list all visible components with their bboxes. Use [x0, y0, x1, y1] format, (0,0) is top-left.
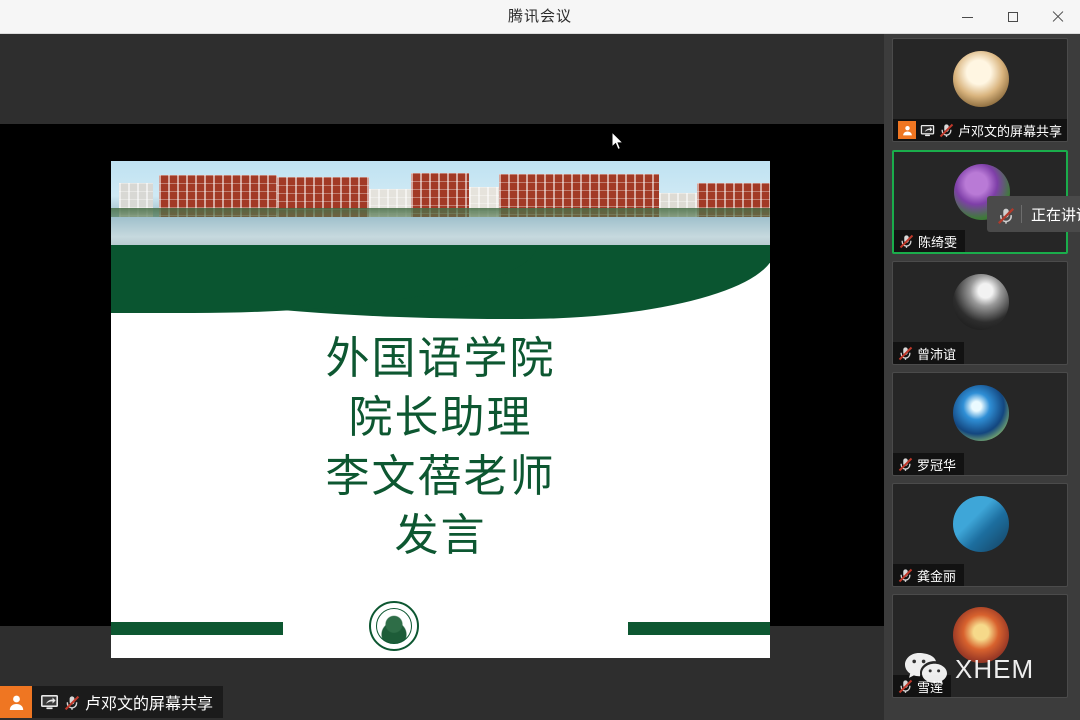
watermark-text: XHEM — [955, 654, 1034, 685]
slide-header-photo — [111, 161, 770, 253]
speaking-tooltip: 正在讲话 — [987, 196, 1080, 232]
participant-namebar-1: 陈绮雯 — [894, 230, 965, 252]
slide-title-line-4: 发言 — [111, 506, 770, 565]
presentation-slide: 外国语学院 院长助理 李文蓓老师 发言 — [111, 161, 770, 658]
screen-share-icon — [40, 694, 59, 710]
screen-share-icon — [920, 124, 935, 137]
slide-footer-bar-right — [628, 622, 770, 635]
participant-sidebar[interactable]: 卢邓文的屏幕共享 陈绮雯 — [884, 34, 1080, 720]
participant-namebar-0: 卢邓文的屏幕共享 — [893, 119, 1068, 141]
slide-title: 外国语学院 院长助理 李文蓓老师 发言 — [111, 329, 770, 565]
tooltip-text: 正在讲话 — [1031, 204, 1080, 225]
participant-name-3: 罗冠华 — [917, 455, 956, 474]
mic-muted-icon — [898, 346, 913, 361]
maximize-button[interactable] — [990, 0, 1035, 34]
participant-name-0: 卢邓文的屏幕共享 — [958, 121, 1062, 140]
participant-name-2: 曾沛谊 — [917, 344, 956, 363]
seal-inner-emblem — [376, 608, 412, 644]
window-controls — [945, 0, 1080, 34]
mic-muted-icon — [898, 568, 913, 583]
wechat-watermark: XHEM — [903, 650, 1034, 688]
participant-namebar-3: 罗冠华 — [893, 453, 964, 475]
maximize-icon — [1008, 12, 1018, 22]
participant-tile-0[interactable]: 卢邓文的屏幕共享 — [892, 38, 1068, 142]
window-title: 腾讯会议 — [0, 0, 1080, 34]
slide-footer-bar-left — [111, 622, 283, 635]
participant-name-4: 龚金丽 — [917, 566, 956, 585]
share-status-icons — [32, 694, 85, 710]
close-button[interactable] — [1035, 0, 1080, 34]
participant-name-1: 陈绮雯 — [918, 232, 957, 251]
participant-namebar-2: 曾沛谊 — [893, 342, 964, 364]
slide-title-line-2: 院长助理 — [111, 388, 770, 447]
slide-title-line-1: 外国语学院 — [111, 329, 770, 388]
minimize-button[interactable] — [945, 0, 990, 34]
shared-screen-stage[interactable]: 外国语学院 院长助理 李文蓓老师 发言 — [0, 34, 884, 720]
minimize-icon — [962, 17, 973, 18]
participant-namebar-4: 龚金丽 — [893, 564, 964, 586]
mic-muted-icon — [898, 457, 913, 472]
avatar — [953, 51, 1009, 107]
avatar — [953, 274, 1009, 330]
wechat-icon — [903, 650, 949, 688]
mouse-cursor — [612, 132, 624, 151]
share-banner-label: 卢邓文的屏幕共享 — [85, 690, 223, 714]
window-titlebar: 腾讯会议 — [0, 0, 1080, 34]
participant-tile-2[interactable]: 曾沛谊 — [892, 261, 1068, 365]
tooltip-divider — [1021, 205, 1022, 223]
avatar — [953, 385, 1009, 441]
mic-muted-icon — [899, 234, 914, 249]
mic-muted-icon — [64, 695, 79, 710]
slide-title-line-3: 李文蓓老师 — [111, 447, 770, 506]
host-person-icon — [0, 686, 32, 718]
close-icon — [1052, 11, 1064, 23]
participant-tile-3[interactable]: 罗冠华 — [892, 372, 1068, 476]
screen-share-banner: 卢邓文的屏幕共享 — [0, 686, 223, 718]
mic-muted-icon — [939, 123, 954, 138]
university-seal-logo — [369, 601, 419, 651]
mic-muted-icon — [997, 207, 1012, 222]
host-person-icon — [898, 121, 916, 139]
avatar — [953, 496, 1009, 552]
participant-tile-4[interactable]: 龚金丽 — [892, 483, 1068, 587]
